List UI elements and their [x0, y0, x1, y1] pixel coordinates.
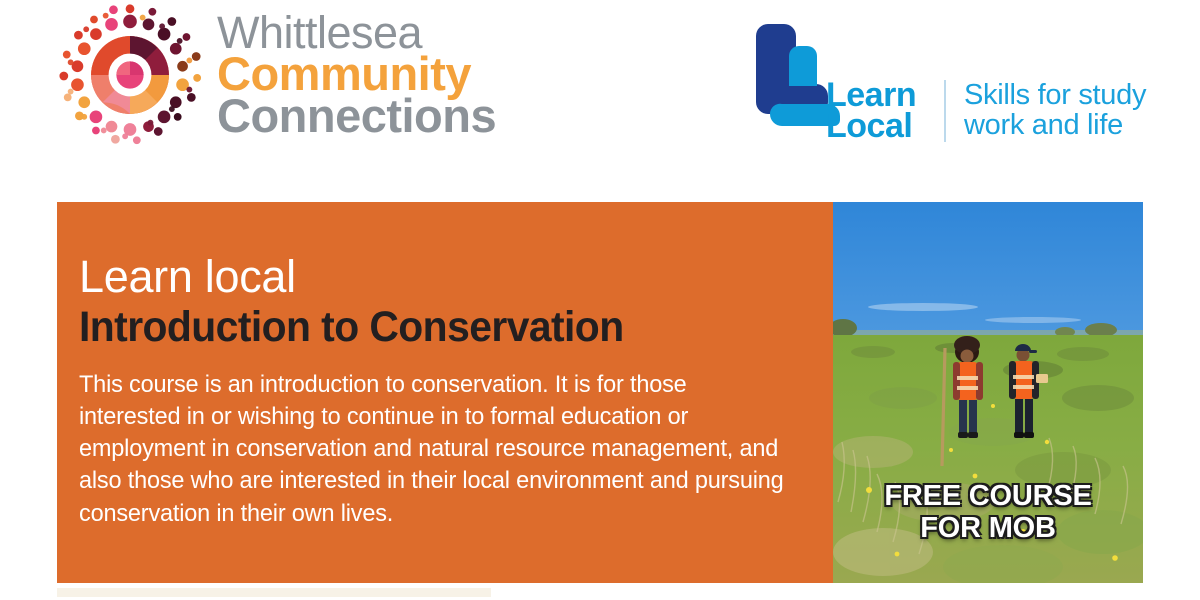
learn-local-wordmark: Learn Local — [826, 80, 916, 143]
learn-local-word-local: Local — [826, 111, 916, 142]
mandala-dots-icon — [57, 2, 203, 148]
whittlesea-community-connections-logo[interactable]: Whittlesea Community Connections — [57, 2, 497, 147]
photo-caption-badge: FREE COURSE FOR MOB — [833, 481, 1143, 545]
tagline-line1: Skills for study — [964, 80, 1146, 110]
org-logo-wordmark: Whittlesea Community Connections — [217, 11, 496, 138]
course-photo: FREE COURSE FOR MOB — [833, 202, 1143, 583]
photo-caption-line1: FREE COURSE — [833, 481, 1143, 513]
course-description: This course is an introduction to conser… — [79, 369, 794, 529]
banner-kicker: Learn local — [79, 254, 795, 299]
tagline-line2: work and life — [964, 110, 1146, 140]
footer-strip — [57, 588, 491, 597]
page-title: Introduction to Conservation — [79, 303, 759, 351]
flyer-page: Whittlesea Community Connections Learn L… — [0, 0, 1200, 600]
course-banner: Learn local Introduction to Conservation… — [57, 202, 1143, 583]
learn-local-logo[interactable]: Learn Local Skills for study work and li… — [748, 22, 1158, 150]
logo-divider — [944, 80, 946, 142]
learn-local-tagline: Skills for study work and life — [964, 80, 1146, 140]
photo-caption-line2: FOR MOB — [833, 513, 1143, 545]
header: Whittlesea Community Connections Learn L… — [0, 0, 1200, 180]
banner-text-panel: Learn local Introduction to Conservation… — [57, 202, 833, 583]
org-name-line3: Connections — [217, 93, 496, 138]
